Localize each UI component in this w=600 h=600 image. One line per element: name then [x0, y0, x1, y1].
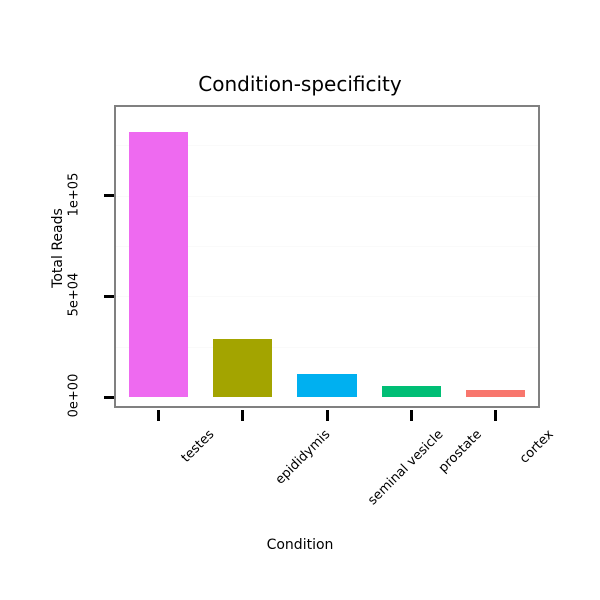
x-tick-label-seminal-vesicle: seminal vesicle — [365, 427, 446, 508]
bar-epididymis[interactable] — [213, 339, 272, 397]
y-tick-mark — [104, 396, 114, 399]
bar-cortex[interactable] — [466, 390, 525, 397]
y-axis-title: Total Reads — [50, 208, 66, 288]
y-tick-mark — [104, 295, 114, 298]
y-tick-mark — [104, 194, 114, 197]
x-axis-title: Condition — [0, 537, 600, 553]
plot-panel — [114, 105, 540, 408]
bar-seminal-vesicle[interactable] — [297, 374, 356, 397]
x-tick-mark — [241, 410, 244, 421]
x-tick-mark — [157, 410, 160, 421]
x-tick-label-epididymis: epididymis — [272, 427, 333, 488]
bar-testes[interactable] — [129, 132, 188, 397]
x-tick-label-cortex: cortex — [517, 427, 557, 467]
chart-title: Condition-specificity — [0, 72, 600, 96]
x-tick-mark — [326, 410, 329, 421]
bar-prostate[interactable] — [382, 386, 441, 397]
plot-area — [116, 107, 538, 406]
y-tick-label: 5e+04 — [67, 265, 82, 325]
chart-root: Condition-specificity Total Reads 0e+005… — [0, 0, 600, 600]
y-tick-label: 0e+00 — [67, 366, 82, 426]
x-tick-mark — [410, 410, 413, 421]
y-tick-label: 1e+05 — [67, 164, 82, 224]
x-tick-label-testes: testes — [179, 427, 218, 466]
x-tick-mark — [494, 410, 497, 421]
